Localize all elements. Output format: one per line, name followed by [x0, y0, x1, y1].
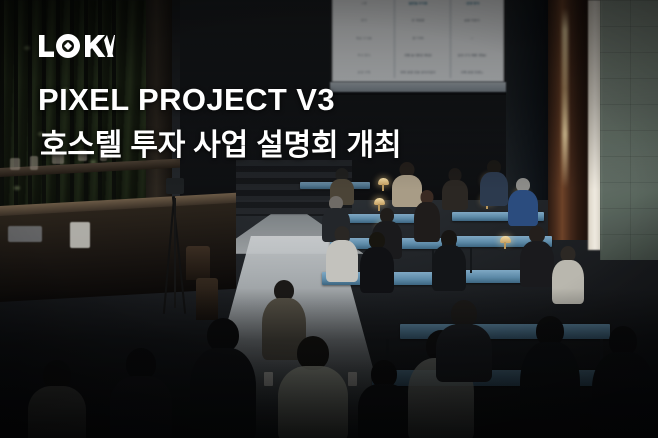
page-subtitle: 호스텔 투자 사업 설명회 개최: [40, 120, 401, 164]
loka-logo: [37, 29, 115, 63]
photo-banner: 구분 일반실 수익형 · 운영 방식 면적 전 객실형 공용 라운지 예상 수익…: [0, 0, 658, 438]
text-overlay: PIXEL PROJECT V3 호스텔 투자 사업 설명회 개최: [0, 0, 658, 438]
page-title: PIXEL PROJECT V3: [38, 82, 335, 118]
